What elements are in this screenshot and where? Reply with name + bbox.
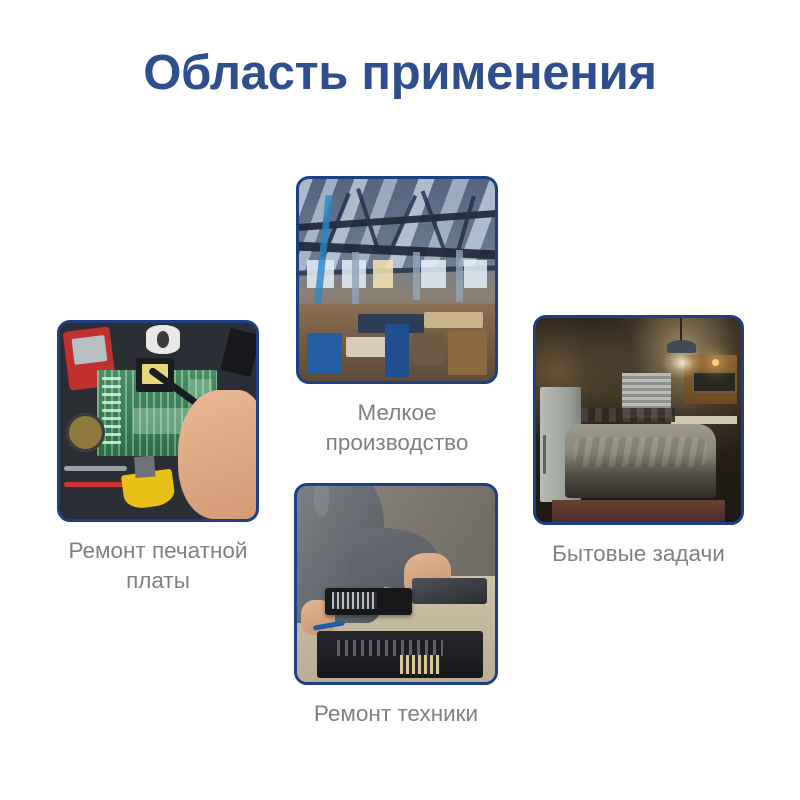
photo-household-tasks — [536, 318, 741, 522]
factory-machine-shape — [307, 333, 342, 373]
factory-machine-shape — [448, 331, 487, 375]
factory-machine-shape — [413, 333, 444, 365]
pcb-pliers-shape — [121, 469, 176, 511]
card-caption-small-production: Мелкое производство — [296, 398, 498, 457]
card-caption-household-tasks: Бытовые задачи — [533, 539, 744, 569]
factory-machine-shape — [424, 312, 483, 328]
photo-frame-household-tasks — [533, 315, 744, 525]
pcb-probe-shape — [64, 482, 127, 487]
factory-column-shape — [456, 250, 463, 303]
photo-frame-pcb-repair — [57, 320, 259, 522]
factory-column-shape — [413, 252, 420, 300]
slide-canvas: Область применения — [0, 0, 800, 800]
factory-machine-shape — [346, 337, 389, 357]
home-lamp-shape — [667, 340, 696, 352]
home-lamp-cord-shape — [680, 318, 682, 342]
photo-frame-small-production — [296, 176, 498, 384]
device-screwdriver-bits-shape — [400, 655, 440, 675]
card-caption-appliance-repair: Ремонт техники — [294, 699, 498, 729]
pcb-probe-shape — [64, 466, 127, 471]
photo-pcb-repair — [60, 323, 256, 519]
card-small-production[interactable]: Мелкое производство — [296, 176, 498, 457]
card-caption-pcb-repair: Ремонт печатной платы — [57, 536, 259, 595]
photo-small-production — [299, 179, 495, 381]
home-couch-shape — [565, 424, 717, 497]
photo-frame-appliance-repair — [294, 483, 498, 685]
home-rug-shape — [552, 500, 724, 522]
card-household-tasks[interactable]: Бытовые задачи — [533, 315, 744, 569]
photo-appliance-repair — [297, 486, 495, 682]
page-title: Область применения — [0, 47, 800, 101]
pcb-heatsink-shape — [220, 328, 256, 377]
pcb-hand-shape — [178, 390, 256, 519]
factory-window-shape — [421, 260, 446, 288]
home-counter-shape — [671, 416, 737, 424]
device-screen-panel-shape — [412, 578, 487, 603]
factory-column-shape — [352, 252, 359, 305]
factory-machine-shape — [385, 324, 409, 377]
pcb-pad-shape — [102, 377, 121, 446]
device-tablet-shape — [325, 588, 412, 615]
card-appliance-repair[interactable]: Ремонт техники — [294, 483, 498, 729]
home-clutter-shape — [581, 408, 675, 422]
pcb-solder-spool-shape — [146, 325, 179, 354]
factory-window-shape — [464, 260, 488, 288]
factory-window-shape — [373, 260, 393, 288]
card-pcb-repair[interactable]: Ремонт печатной платы — [57, 320, 259, 595]
